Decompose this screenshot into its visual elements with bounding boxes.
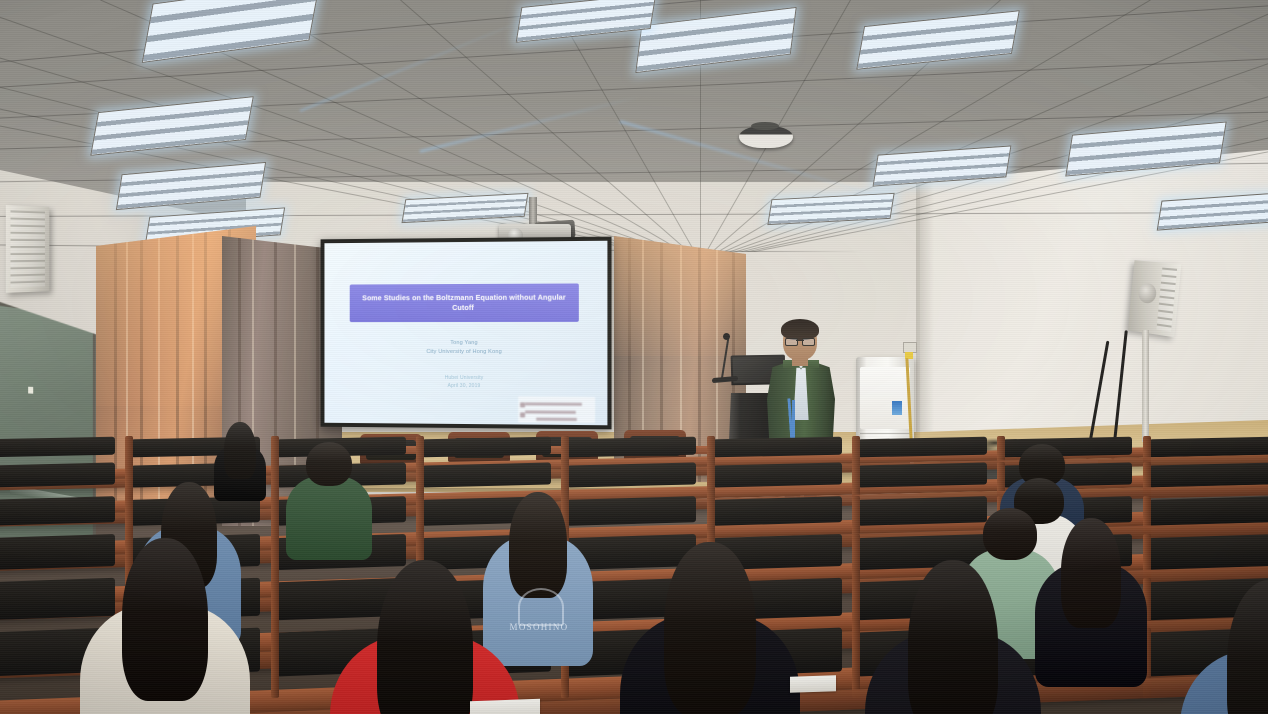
student-black-top-front <box>620 542 800 714</box>
ceiling-light-panel <box>90 96 254 156</box>
lecture-hall-photo: Some Studies on the Boltzmann Equation w… <box>0 0 1268 714</box>
person-torso <box>286 476 372 560</box>
chalk-piece <box>28 387 33 394</box>
ceiling-light-panel <box>142 0 321 63</box>
person-head <box>224 422 256 479</box>
student-back-left-hoodie <box>80 538 250 714</box>
slide-affiliation: City University of Hong Kong <box>324 349 607 356</box>
presenter-hair <box>781 319 819 340</box>
slide-host-institution: Hubei University <box>324 374 607 381</box>
person-head <box>377 560 473 714</box>
ceiling-light-panel <box>516 0 657 43</box>
student-green-jacket <box>286 442 372 570</box>
person-head <box>1061 518 1121 628</box>
ceiling-light-panel <box>635 7 797 73</box>
student-dark-front-right <box>865 560 1041 714</box>
person-head <box>664 542 756 714</box>
wall-speaker-left-icon <box>6 205 50 293</box>
student-blue-right-edge <box>1180 580 1268 714</box>
microphone-icon <box>723 333 730 340</box>
ceiling-light-panel <box>1157 191 1268 230</box>
notebook-paper <box>470 699 540 714</box>
ceiling-light-panel <box>767 193 894 225</box>
person-head <box>908 560 998 714</box>
ceiling-light-panel <box>116 162 266 210</box>
person-head <box>983 508 1037 560</box>
eyeglasses-icon <box>785 338 815 344</box>
ceiling-light-panel <box>873 145 1012 186</box>
ceiling-light-panel <box>1065 121 1226 176</box>
person-head <box>306 442 352 486</box>
slide-date: April 30, 2019 <box>324 382 607 389</box>
ceiling-smoke-detector-icon <box>739 126 793 148</box>
ceiling-light-panel <box>856 10 1020 70</box>
seated-students: MOSOHINO <box>0 400 1268 714</box>
person-head <box>1227 580 1268 714</box>
projected-slide: Some Studies on the Boltzmann Equation w… <box>324 241 607 426</box>
notebook-paper <box>790 675 836 693</box>
jacket-heart-print-icon <box>518 588 564 626</box>
person-head <box>122 538 208 701</box>
slide-author: Tong Yang <box>324 340 607 346</box>
slide-title: Some Studies on the Boltzmann Equation w… <box>350 283 579 322</box>
wall-speaker-right-icon <box>1128 260 1181 337</box>
student-red-top <box>330 560 520 714</box>
ceiling-light-panel <box>401 193 528 223</box>
student-dark-front-right <box>1035 518 1147 700</box>
